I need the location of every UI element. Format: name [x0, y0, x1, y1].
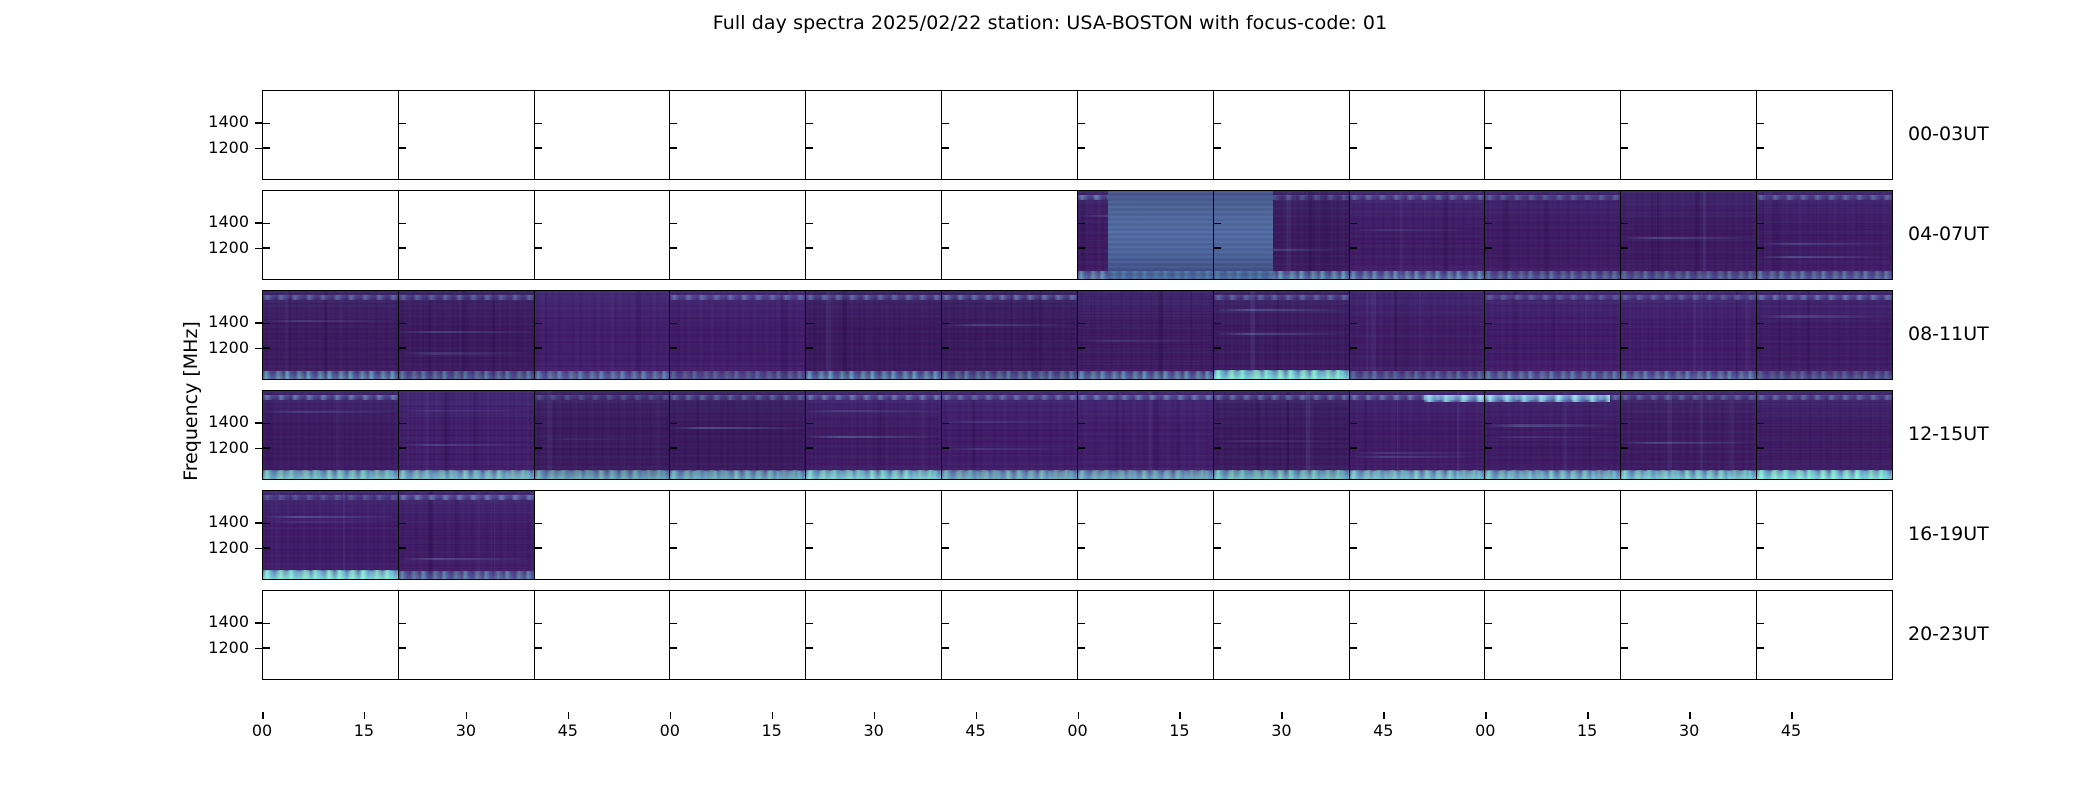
- panel-y-tick: [942, 323, 949, 325]
- x-axis-tick: [976, 712, 978, 719]
- x-axis-tick-label: 30: [854, 723, 894, 739]
- sub-panel[interactable]: [1213, 591, 1349, 679]
- texture-column-band: [970, 391, 973, 479]
- panel-strip: [263, 391, 1892, 479]
- panel-y-tick: [1078, 423, 1085, 425]
- panel-y-tick: [1214, 247, 1221, 249]
- texture-vertical-stripes-secondary: [399, 391, 534, 479]
- texture-vertical-stripes-secondary: [1078, 291, 1213, 379]
- sub-panel[interactable]: [263, 291, 398, 379]
- texture-column-band: [478, 491, 480, 579]
- texture-mid-streak: [1757, 243, 1892, 245]
- panel-y-tick: [399, 547, 406, 549]
- panel-data-area: [1621, 391, 1756, 479]
- spectrogram-row-16-19ut[interactable]: [262, 490, 1893, 580]
- emission-band-bottom-bright: [1485, 470, 1620, 479]
- panel-y-tick: [942, 547, 949, 549]
- texture-column-band: [826, 291, 831, 379]
- panel-strip: [263, 191, 1892, 279]
- y-axis-tick-label: 1200: [193, 540, 249, 556]
- texture-mid-streak: [1078, 340, 1213, 342]
- page-title: Full day spectra 2025/02/22 station: USA…: [0, 12, 2100, 34]
- sub-panel[interactable]: [669, 491, 805, 579]
- texture-column-band: [1419, 291, 1421, 379]
- panel-y-tick: [806, 423, 813, 425]
- texture-column-band: [1457, 391, 1460, 479]
- texture-column-band: [637, 291, 641, 379]
- emission-band-top: [1485, 295, 1620, 300]
- texture-column-band: [1039, 291, 1040, 379]
- sub-panel[interactable]: [941, 91, 1077, 179]
- emission-band-top: [535, 395, 670, 400]
- emission-band-bottom: [1350, 271, 1485, 279]
- high-intensity-block: [1214, 191, 1273, 279]
- texture-column-band: [428, 491, 433, 579]
- sub-panel[interactable]: [1077, 391, 1213, 479]
- panel-y-tick: [399, 647, 406, 649]
- texture-mid-streak: [1350, 229, 1485, 231]
- texture-vertical-stripes-secondary: [399, 291, 534, 379]
- texture-column-band: [1729, 391, 1733, 479]
- emission-band-top: [1757, 195, 1892, 200]
- block-striping: [1214, 191, 1273, 279]
- texture-column-band: [1745, 291, 1749, 379]
- sub-panel[interactable]: [669, 91, 805, 179]
- sub-panel[interactable]: [941, 291, 1077, 379]
- texture-column-band: [1122, 391, 1124, 479]
- panel-data-area: [399, 391, 534, 479]
- sub-panel[interactable]: [1349, 491, 1485, 579]
- panel-y-tick: [670, 623, 677, 625]
- emission-band-top: [806, 295, 941, 300]
- panel-y-tick: [942, 223, 949, 225]
- y-axis-tick-label: 1400: [193, 414, 249, 430]
- texture-vertical-stripes-secondary: [1485, 391, 1620, 479]
- sub-panel[interactable]: [1349, 391, 1485, 479]
- sub-panel[interactable]: [941, 591, 1077, 679]
- texture-column-band: [1153, 391, 1158, 479]
- texture-column-band: [1762, 191, 1764, 279]
- panel-y-tick: [1214, 423, 1221, 425]
- sub-panel[interactable]: [1349, 191, 1485, 279]
- texture-column-band: [1031, 291, 1034, 379]
- panel-y-tick: [263, 123, 270, 125]
- texture-column-band: [423, 291, 424, 379]
- panel-y-tick: [1078, 147, 1085, 149]
- panel-data-area: [535, 291, 670, 379]
- panel-y-tick: [1214, 223, 1221, 225]
- x-axis-tick-label: 15: [1159, 723, 1199, 739]
- panel-y-tick: [1485, 123, 1492, 125]
- panel-y-tick: [1214, 523, 1221, 525]
- panel-y-tick: [670, 547, 677, 549]
- texture-vertical-stripes-secondary: [1621, 191, 1756, 279]
- panel-data-area: [1485, 191, 1620, 279]
- panel-y-tick: [1214, 347, 1221, 349]
- emission-band-bottom: [1078, 371, 1213, 379]
- texture-column-band: [1082, 191, 1086, 279]
- panel-y-tick: [263, 347, 270, 349]
- texture-column-band: [1366, 291, 1369, 379]
- emission-band-top: [1214, 395, 1349, 400]
- sub-panel[interactable]: [1756, 191, 1892, 279]
- panel-y-tick: [1757, 447, 1764, 449]
- x-axis-tick-label: 15: [1567, 723, 1607, 739]
- panel-y-tick: [1350, 223, 1357, 225]
- panel-y-tick: [806, 623, 813, 625]
- x-axis-tick: [1078, 712, 1080, 719]
- panel-y-tick: [1078, 347, 1085, 349]
- sub-panel[interactable]: [1484, 91, 1620, 179]
- sub-panel[interactable]: [1620, 291, 1756, 379]
- panel-y-tick: [670, 123, 677, 125]
- emission-band-bottom-bright: [942, 470, 1077, 479]
- texture-column-band: [275, 491, 280, 579]
- texture-column-band: [1826, 391, 1828, 479]
- panel-y-tick: [263, 147, 270, 149]
- sub-panel[interactable]: [1620, 591, 1756, 679]
- emission-band-top-bright: [1485, 395, 1609, 401]
- panel-y-tick: [806, 247, 813, 249]
- panel-data-area: [1621, 291, 1756, 379]
- panel-y-tick: [942, 623, 949, 625]
- texture-mid-streak: [399, 352, 534, 354]
- sub-panel[interactable]: [534, 591, 670, 679]
- x-axis-tick-label: 45: [1363, 723, 1403, 739]
- sub-panel[interactable]: [263, 91, 398, 179]
- texture-column-band: [1686, 191, 1687, 279]
- x-axis-tick: [1383, 712, 1385, 719]
- sub-panel[interactable]: [398, 491, 534, 579]
- sub-panel[interactable]: [1484, 191, 1620, 279]
- texture-column-band: [336, 391, 340, 479]
- panel-y-tick: [399, 323, 406, 325]
- sub-panel[interactable]: [1213, 91, 1349, 179]
- emission-band-top: [1078, 395, 1213, 400]
- texture-column-band: [612, 291, 614, 379]
- texture-mid-streak: [399, 444, 534, 446]
- sub-panel[interactable]: [669, 191, 805, 279]
- texture-column-band: [676, 291, 680, 379]
- row-label-12-15ut: 12-15UT: [1908, 425, 1989, 444]
- panel-data-area: [942, 291, 1077, 379]
- panel-data-area: [806, 291, 941, 379]
- sub-panel[interactable]: [1213, 191, 1349, 279]
- sub-panel[interactable]: [263, 391, 398, 479]
- sub-panel[interactable]: [805, 491, 941, 579]
- sub-panel[interactable]: [1484, 591, 1620, 679]
- sub-panel[interactable]: [941, 191, 1077, 279]
- y-axis-tick: [255, 522, 262, 524]
- x-axis-tick: [1485, 712, 1487, 719]
- panel-y-tick: [1350, 123, 1357, 125]
- emission-band-bottom-bright: [263, 470, 398, 479]
- texture-vertical-stripes-secondary: [263, 491, 398, 579]
- texture-column-band: [1308, 191, 1311, 279]
- texture-vertical-stripes-secondary: [399, 491, 534, 579]
- sub-panel[interactable]: [1077, 491, 1213, 579]
- texture-mid-streak: [399, 410, 534, 412]
- emission-band-top: [263, 395, 398, 400]
- y-axis-tick-label: 1400: [193, 214, 249, 230]
- sub-panel[interactable]: [398, 391, 534, 479]
- texture-column-band: [1394, 291, 1397, 379]
- sub-panel[interactable]: [1620, 391, 1756, 479]
- emission-band-top: [670, 395, 805, 400]
- texture-column-band: [1651, 191, 1653, 279]
- x-axis-tick: [466, 712, 468, 719]
- panel-data-area: [942, 391, 1077, 479]
- row-label-08-11ut: 08-11UT: [1908, 325, 1989, 344]
- y-axis-tick: [255, 248, 262, 250]
- emission-band-bottom: [670, 371, 805, 379]
- x-axis-tick: [772, 712, 774, 719]
- row-label-00-03ut: 00-03UT: [1908, 125, 1989, 144]
- emission-band-top: [399, 295, 534, 300]
- sub-panel[interactable]: [1484, 491, 1620, 579]
- panel-y-tick: [1350, 447, 1357, 449]
- texture-vertical-stripes-secondary: [1757, 391, 1892, 479]
- texture-column-band: [1287, 391, 1289, 479]
- sub-panel[interactable]: [805, 291, 941, 379]
- sub-panel[interactable]: [1349, 291, 1485, 379]
- sub-panel[interactable]: [534, 291, 670, 379]
- x-axis-tick: [1179, 712, 1181, 719]
- emission-band-bottom: [1621, 271, 1756, 279]
- emission-band-bottom: [1757, 271, 1892, 279]
- sub-panel[interactable]: [1349, 91, 1485, 179]
- panel-y-tick: [1757, 123, 1764, 125]
- sub-panel[interactable]: [1077, 591, 1213, 679]
- sub-panel[interactable]: [534, 491, 670, 579]
- panel-y-tick: [1485, 623, 1492, 625]
- panel-y-tick: [1350, 647, 1357, 649]
- panel-y-tick: [1078, 647, 1085, 649]
- panel-y-tick: [1621, 247, 1628, 249]
- x-axis-tick: [1587, 712, 1589, 719]
- panel-y-tick: [1757, 323, 1764, 325]
- sub-panel[interactable]: [398, 291, 534, 379]
- sub-panel[interactable]: [1213, 491, 1349, 579]
- texture-mid-streak: [1350, 456, 1485, 458]
- sub-panel[interactable]: [398, 591, 534, 679]
- texture-column-band: [1703, 191, 1706, 279]
- texture-column-band: [545, 291, 547, 379]
- panel-y-tick: [670, 323, 677, 325]
- texture-column-band: [1158, 291, 1163, 379]
- texture-vertical-stripes-secondary: [263, 391, 398, 479]
- emission-band-bottom-bright: [535, 470, 670, 479]
- sub-panel[interactable]: [1484, 291, 1620, 379]
- panel-strip: [263, 591, 1892, 679]
- panel-y-tick: [1485, 647, 1492, 649]
- panel-strip: [263, 291, 1892, 379]
- sub-panel[interactable]: [1349, 591, 1485, 679]
- texture-mid-streak: [1621, 237, 1756, 239]
- y-axis-tick-label: 1200: [193, 340, 249, 356]
- sub-panel[interactable]: [1213, 391, 1349, 479]
- sub-panel[interactable]: [669, 291, 805, 379]
- sub-panel[interactable]: [941, 391, 1077, 479]
- panel-y-tick: [1757, 147, 1764, 149]
- panel-data-area: [1485, 391, 1620, 479]
- sub-panel[interactable]: [1756, 91, 1892, 179]
- texture-mid-streak: [1485, 424, 1620, 426]
- texture-vertical-stripes-secondary: [263, 291, 398, 379]
- block-striping: [1108, 191, 1213, 279]
- sub-panel[interactable]: [398, 191, 534, 279]
- sub-panel[interactable]: [805, 391, 941, 479]
- panel-data-area: [1757, 391, 1892, 479]
- sub-panel[interactable]: [1620, 91, 1756, 179]
- texture-vertical-stripes-secondary: [1350, 291, 1485, 379]
- panel-y-tick: [670, 247, 677, 249]
- panel-y-tick: [1350, 247, 1357, 249]
- panel-y-tick: [670, 647, 677, 649]
- spectrogram-row-08-11ut[interactable]: [262, 290, 1893, 380]
- panel-y-tick: [1350, 423, 1357, 425]
- sub-panel[interactable]: [263, 191, 398, 279]
- x-axis-tick-label: 30: [1669, 723, 1709, 739]
- texture-column-band: [1514, 291, 1517, 379]
- sub-panel[interactable]: [805, 91, 941, 179]
- panel-y-tick: [670, 447, 677, 449]
- sub-panel[interactable]: [534, 191, 670, 279]
- panel-y-tick: [535, 423, 542, 425]
- x-axis-tick-label: 00: [242, 723, 282, 739]
- panel-y-tick: [670, 423, 677, 425]
- x-axis-tick-label: 45: [548, 723, 588, 739]
- texture-vertical-stripes-secondary: [1214, 391, 1349, 479]
- sub-panel[interactable]: [805, 191, 941, 279]
- panel-y-tick: [535, 523, 542, 525]
- texture-mid-streak: [535, 438, 670, 440]
- sub-panel[interactable]: [534, 91, 670, 179]
- sub-panel[interactable]: [1756, 491, 1892, 579]
- panel-data-area: [1757, 291, 1892, 379]
- emission-band-top: [1621, 295, 1756, 300]
- texture-column-band: [1695, 191, 1700, 279]
- texture-column-band: [842, 291, 846, 379]
- sub-panel[interactable]: [1756, 591, 1892, 679]
- panel-y-tick: [942, 247, 949, 249]
- emission-band-bottom-bright: [263, 570, 398, 579]
- sub-panel[interactable]: [1484, 391, 1620, 479]
- sub-panel[interactable]: [398, 91, 534, 179]
- panel-data-area: [1214, 391, 1349, 479]
- sub-panel[interactable]: [1213, 291, 1349, 379]
- sub-panel[interactable]: [941, 491, 1077, 579]
- panel-y-tick: [263, 223, 270, 225]
- panel-y-tick: [535, 623, 542, 625]
- texture-column-band: [494, 491, 496, 579]
- panel-y-tick: [263, 647, 270, 649]
- sub-panel[interactable]: [1756, 391, 1892, 479]
- panel-y-tick: [263, 523, 270, 525]
- panel-y-tick: [806, 123, 813, 125]
- y-axis-tick: [255, 622, 262, 624]
- panel-y-tick: [1078, 247, 1085, 249]
- texture-mid-streak: [1485, 436, 1620, 438]
- panel-y-tick: [535, 647, 542, 649]
- high-intensity-block: [1108, 191, 1213, 279]
- panel-y-tick: [1757, 247, 1764, 249]
- texture-column-band: [454, 491, 459, 579]
- emission-band-top: [263, 495, 398, 500]
- sub-panel[interactable]: [1620, 491, 1756, 579]
- panel-y-tick: [399, 523, 406, 525]
- texture-column-band: [1816, 191, 1818, 279]
- y-axis-tick: [255, 548, 262, 550]
- y-axis-tick: [255, 322, 262, 324]
- panel-y-tick: [1350, 623, 1357, 625]
- spectrogram-row-04-07ut[interactable]: [262, 190, 1893, 280]
- sub-panel[interactable]: [1756, 291, 1892, 379]
- texture-column-band: [1736, 291, 1738, 379]
- texture-mid-streak: [399, 558, 534, 560]
- panel-y-tick: [263, 447, 270, 449]
- texture-column-band: [1585, 291, 1587, 379]
- texture-mid-streak: [1621, 442, 1756, 444]
- texture-column-band: [974, 391, 976, 479]
- texture-column-band: [1779, 291, 1781, 379]
- sub-panel[interactable]: [263, 491, 398, 579]
- texture-column-band: [1364, 391, 1367, 479]
- panel-y-tick: [1621, 147, 1628, 149]
- spectrogram-row-20-23ut[interactable]: [262, 590, 1893, 680]
- panel-y-tick: [535, 123, 542, 125]
- sub-panel[interactable]: [534, 391, 670, 479]
- panel-y-tick: [263, 423, 270, 425]
- sub-panel[interactable]: [1620, 191, 1756, 279]
- sub-panel[interactable]: [805, 591, 941, 679]
- texture-vertical-stripes-secondary: [942, 291, 1077, 379]
- spectrogram-row-00-03ut[interactable]: [262, 90, 1893, 180]
- emission-band-bottom: [535, 371, 670, 379]
- sub-panel[interactable]: [263, 591, 398, 679]
- sub-panel[interactable]: [669, 591, 805, 679]
- texture-column-band: [1657, 191, 1659, 279]
- y-axis-tick: [255, 648, 262, 650]
- texture-column-band: [1251, 391, 1252, 479]
- texture-column-band: [727, 391, 729, 479]
- panel-y-tick: [1757, 647, 1764, 649]
- spectrogram-row-12-15ut[interactable]: [262, 390, 1893, 480]
- panel-data-area: [263, 491, 398, 579]
- texture-mid-streak: [670, 427, 805, 429]
- panel-y-tick: [263, 247, 270, 249]
- sub-panel[interactable]: [1077, 191, 1213, 279]
- panel-y-tick: [1214, 623, 1221, 625]
- emission-band-bottom-bright: [1214, 370, 1349, 379]
- sub-panel[interactable]: [1077, 291, 1213, 379]
- panel-y-tick: [1078, 223, 1085, 225]
- panel-y-tick: [1621, 323, 1628, 325]
- texture-column-band: [1397, 391, 1398, 479]
- panel-y-tick: [1621, 223, 1628, 225]
- panel-y-tick: [942, 447, 949, 449]
- panel-y-tick: [1485, 147, 1492, 149]
- texture-column-band: [953, 291, 955, 379]
- y-axis-tick: [255, 448, 262, 450]
- sub-panel[interactable]: [1077, 91, 1213, 179]
- x-axis-tick-label: 30: [1261, 723, 1301, 739]
- texture-mid-streak: [806, 410, 941, 412]
- texture-column-band: [1402, 291, 1406, 379]
- panel-y-tick: [1621, 623, 1628, 625]
- sub-panel[interactable]: [669, 391, 805, 479]
- texture-mid-streak: [263, 411, 398, 413]
